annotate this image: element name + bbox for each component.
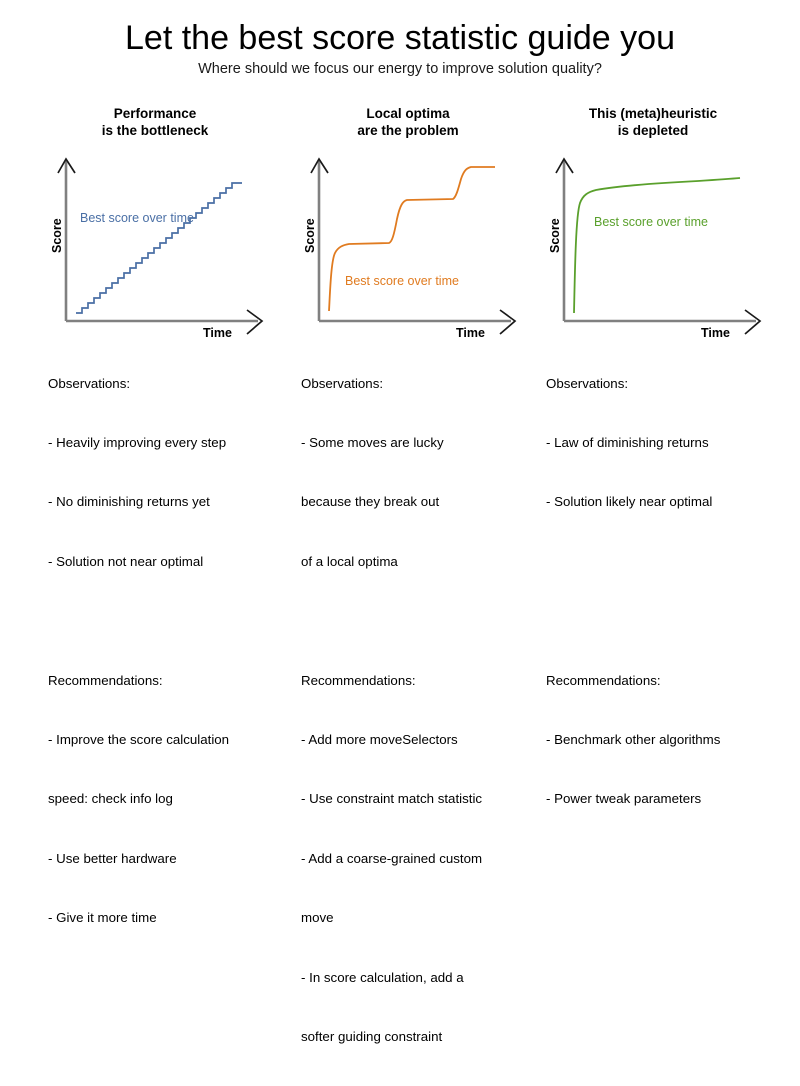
slide-canvas: Let the best score statistic guide you W… [0, 0, 800, 600]
panel-title-local-optima: Local optima are the problem [283, 105, 533, 139]
chart-depleted: Score Time Best score over time [528, 143, 778, 348]
recommendation-item: - In score calculation, add a [301, 968, 539, 988]
observations-heading: Observations: [48, 374, 296, 394]
panel-depleted: This (meta)heuristic is depleted Score T… [528, 105, 778, 348]
observation-item: because they break out [301, 492, 539, 512]
notes-spacer [48, 611, 296, 631]
chart-local-optima: Score Time Best score over time [283, 143, 533, 348]
y-axis-label: Score [50, 218, 64, 253]
observation-item: - Some moves are lucky [301, 433, 539, 453]
observation-item: - Solution not near optimal [48, 552, 296, 572]
recommendation-item: - Power tweak parameters [546, 789, 790, 809]
series-line-best-score [329, 167, 495, 311]
y-axis-label: Score [303, 218, 317, 253]
notes-spacer [546, 611, 790, 631]
recommendation-item: - Use better hardware [48, 849, 296, 869]
recommendation-item: speed: check info log [48, 789, 296, 809]
chart-performance-svg [30, 143, 280, 348]
y-axis-label: Score [548, 218, 562, 253]
page-title: Let the best score statistic guide you [0, 18, 800, 58]
notes-depleted: Observations: - Law of diminishing retur… [546, 334, 790, 849]
panel-title-line2: is depleted [528, 122, 778, 139]
recommendations-heading: Recommendations: [48, 671, 296, 691]
page-subtitle: Where should we focus our energy to impr… [0, 59, 800, 79]
panel-title-line1: Performance [114, 106, 197, 121]
recommendation-item: - Benchmark other algorithms [546, 730, 790, 750]
series-annotation-best-score: Best score over time [345, 274, 459, 288]
observation-item: of a local optima [301, 552, 539, 572]
series-annotation-best-score: Best score over time [80, 211, 194, 225]
notes-spacer [301, 611, 539, 631]
panel-title-line1: Local optima [366, 106, 449, 121]
panel-performance: Performance is the bottleneck Score Time… [30, 105, 280, 348]
recommendation-item: - Add more moveSelectors [301, 730, 539, 750]
panel-title-line2: are the problem [283, 122, 533, 139]
chart-performance: Score Time Best score over time [30, 143, 280, 348]
observation-item: - Heavily improving every step [48, 433, 296, 453]
notes-spacer [546, 552, 790, 572]
series-line-best-score [76, 183, 242, 313]
panel-title-performance: Performance is the bottleneck [30, 105, 280, 139]
recommendations-heading: Recommendations: [301, 671, 539, 691]
panel-title-line2: is the bottleneck [30, 122, 280, 139]
chart-local-optima-svg [283, 143, 533, 348]
observation-item: - Law of diminishing returns [546, 433, 790, 453]
observations-heading: Observations: [546, 374, 790, 394]
panel-local-optima: Local optima are the problem Score Time … [283, 105, 533, 348]
observations-heading: Observations: [301, 374, 539, 394]
panel-title-depleted: This (meta)heuristic is depleted [528, 105, 778, 139]
recommendation-item: move [301, 908, 539, 928]
series-annotation-best-score: Best score over time [594, 215, 708, 229]
recommendations-heading: Recommendations: [546, 671, 790, 691]
recommendation-item: - Give it more time [48, 908, 296, 928]
recommendation-item: - Add a coarse-grained custom [301, 849, 539, 869]
recommendation-item: - Use constraint match statistic [301, 789, 539, 809]
series-line-best-score [574, 178, 740, 313]
panel-title-line1: This (meta)heuristic [589, 106, 717, 121]
observation-item: - No diminishing returns yet [48, 492, 296, 512]
recommendation-item: - Improve the score calculation [48, 730, 296, 750]
chart-depleted-svg [528, 143, 778, 348]
recommendation-item: softer guiding constraint [301, 1027, 539, 1047]
notes-local-optima: Observations: - Some moves are lucky bec… [301, 334, 539, 1086]
observation-item: - Solution likely near optimal [546, 492, 790, 512]
notes-performance: Observations: - Heavily improving every … [48, 334, 296, 968]
